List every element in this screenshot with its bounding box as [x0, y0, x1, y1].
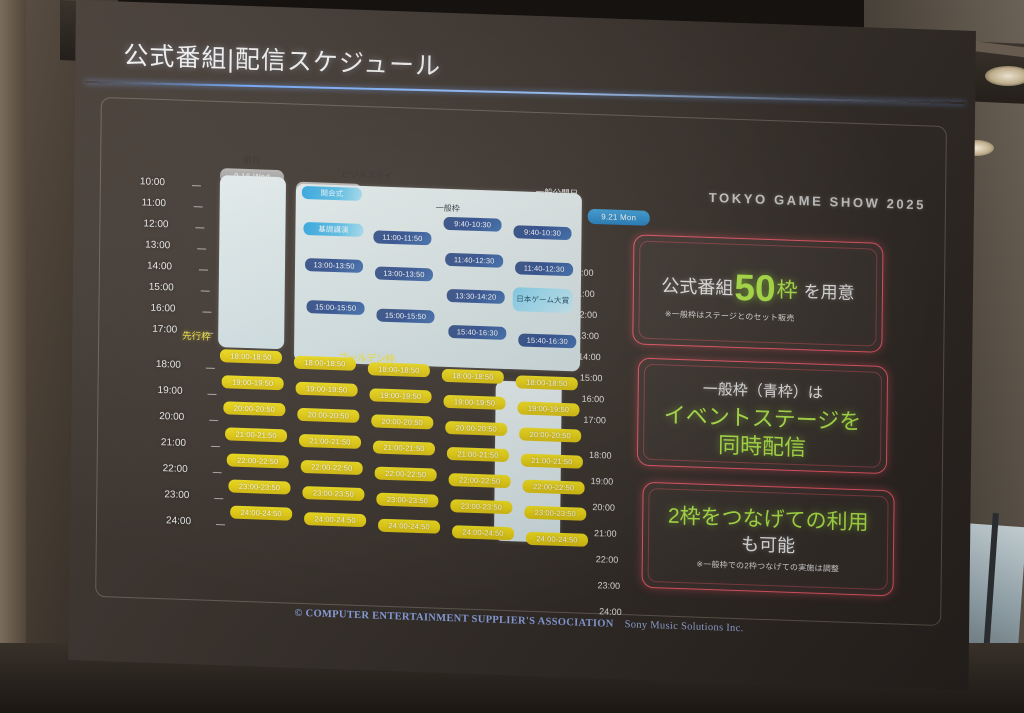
night-0-3[interactable]: 21:00-21:50: [225, 427, 287, 442]
night-0-2[interactable]: 20:00-20:50: [223, 401, 285, 416]
time-label-17: 17:00: [152, 324, 177, 336]
slot-thu-2[interactable]: 13:00-13:50: [305, 258, 363, 273]
night-2-5[interactable]: 23:00-23:50: [376, 493, 438, 508]
night-3-6[interactable]: 24:00-24:50: [452, 525, 514, 540]
slot-sun-1[interactable]: 11:40-12:30: [515, 261, 573, 276]
right-night-19: 19:00: [591, 476, 614, 487]
night-label-21: 21:00: [161, 437, 186, 449]
night-1-1[interactable]: 19:00-19:50: [296, 382, 358, 397]
right-label-15: 15:00: [580, 373, 603, 384]
night-4-3[interactable]: 21:00-21:50: [521, 454, 583, 469]
day-panel-9-16[interactable]: [218, 175, 286, 349]
right-night-18: 18:00: [589, 450, 612, 461]
time-label-14: 14:00: [147, 261, 172, 273]
slot-sat-2[interactable]: 13:30-14:20: [447, 289, 505, 304]
slot-thu-1[interactable]: 基調講演: [303, 222, 363, 237]
night-label-18: 18:00: [156, 359, 181, 371]
slot-sat-0[interactable]: 9:40-10:30: [444, 217, 502, 232]
projected-slide-photo: 公式番組|配信スケジュール TOKYO GAME SHOW 2025 前日 9.…: [0, 0, 1024, 713]
night-label-20: 20:00: [159, 411, 184, 423]
time-label-15: 15:00: [149, 282, 174, 294]
slot-sun-2-game-awards[interactable]: 日本ゲーム大賞: [513, 287, 573, 313]
night-2-0[interactable]: 18:00-18:50: [368, 362, 430, 377]
callout-simulcast[interactable]: 一般枠（青枠）は イベントステージを 同時配信: [637, 358, 888, 475]
night-2-1[interactable]: 19:00-19:50: [370, 388, 432, 403]
group-label-business-day: ビジネスデイ: [296, 167, 438, 184]
callout-slot-count-suffix: を用意: [803, 282, 854, 303]
callout-double-slot[interactable]: 2枠をつなげての利用 も可能 ※一般枠での2枠つなげての実施は調整: [641, 482, 894, 597]
section-label-advance: 先行枠: [182, 328, 211, 343]
right-night-20: 20:00: [592, 502, 615, 513]
right-night-22: 22:00: [596, 554, 619, 565]
page-title: 公式番組|配信スケジュール: [123, 36, 441, 83]
broadcast-schedule: 前日 9.16 Wed ビジネスデイ 9.17 Thu 9.18 Fri 一般公…: [136, 150, 651, 580]
right-night-21: 21:00: [594, 528, 617, 539]
right-label-14: 14:00: [578, 351, 601, 362]
callout-slot-count[interactable]: 公式番組50枠を用意 ※一般枠はステージとのセット販売: [632, 234, 883, 353]
night-label-19: 19:00: [157, 385, 182, 397]
callout-slot-count-prefix: 公式番組: [661, 276, 733, 298]
night-1-3[interactable]: 21:00-21:50: [299, 434, 361, 449]
night-2-3[interactable]: 21:00-21:50: [373, 440, 435, 455]
night-4-1[interactable]: 19:00-19:50: [517, 401, 579, 416]
night-0-1[interactable]: 19:00-19:50: [222, 375, 284, 390]
time-label-12: 12:00: [143, 218, 168, 230]
night-4-2[interactable]: 20:00-20:50: [519, 427, 581, 442]
night-0-5[interactable]: 23:00-23:50: [228, 479, 290, 494]
night-4-6[interactable]: 24:00-24:50: [526, 532, 588, 547]
night-1-0[interactable]: 18:00-18:50: [294, 356, 356, 371]
night-3-5[interactable]: 23:00-23:50: [450, 499, 512, 514]
time-label-11: 11:00: [142, 197, 166, 209]
night-3-2[interactable]: 20:00-20:50: [445, 421, 507, 436]
night-0-4[interactable]: 22:00-22:50: [227, 453, 289, 468]
day-header-5[interactable]: 9.21 Mon: [588, 209, 650, 226]
night-3-4[interactable]: 22:00-22:50: [449, 473, 511, 488]
slot-sat-3[interactable]: 15:40-16:30: [448, 325, 506, 340]
projection-screen-wrap: 公式番組|配信スケジュール TOKYO GAME SHOW 2025 前日 9.…: [68, 0, 976, 711]
room-wall-left-edge: [0, 0, 26, 713]
night-2-2[interactable]: 20:00-20:50: [371, 414, 433, 429]
group-label-prev-day: 前日: [220, 153, 284, 167]
night-2-4[interactable]: 22:00-22:50: [375, 466, 437, 481]
footer-partner: Sony Music Solutions Inc.: [625, 619, 744, 634]
night-3-3[interactable]: 21:00-21:50: [447, 447, 509, 462]
slot-fri-1[interactable]: 13:00-13:50: [375, 266, 433, 281]
slot-sun-3[interactable]: 15:40-16:30: [518, 333, 576, 348]
night-4-5[interactable]: 23:00-23:50: [524, 506, 586, 521]
ceiling-light-1: [985, 66, 1024, 86]
slot-fri-0[interactable]: 11:00-11:50: [373, 230, 431, 245]
slot-sat-1[interactable]: 11:40-12:30: [445, 253, 503, 268]
night-label-22: 22:00: [163, 463, 188, 475]
night-1-6[interactable]: 24:00-24:50: [304, 512, 366, 527]
night-1-2[interactable]: 20:00-20:50: [297, 408, 359, 423]
night-label-24: 24:00: [166, 515, 191, 527]
night-label-23: 23:00: [164, 489, 189, 501]
slot-fri-2[interactable]: 15:00-15:50: [376, 308, 434, 323]
right-label-17: 17:00: [583, 415, 606, 426]
night-4-0[interactable]: 18:00-18:50: [516, 375, 578, 390]
time-label-13: 13:00: [145, 239, 170, 251]
night-2-6[interactable]: 24:00-24:50: [378, 519, 440, 534]
night-0-0[interactable]: 18:00-18:50: [220, 349, 282, 364]
time-label-16: 16:00: [150, 303, 175, 315]
time-label-10: 10:00: [140, 176, 165, 188]
night-3-1[interactable]: 19:00-19:50: [443, 395, 505, 410]
right-label-16: 16:00: [582, 394, 605, 405]
general-slot-label: 一般枠: [436, 202, 460, 214]
callout-slot-count-unit: 枠: [776, 279, 797, 303]
slot-thu-0[interactable]: 開会式: [302, 186, 362, 201]
night-1-4[interactable]: 22:00-22:50: [301, 460, 363, 475]
night-0-6[interactable]: 24:00-24:50: [230, 506, 292, 521]
night-4-4[interactable]: 22:00-22:50: [523, 480, 585, 495]
right-night-23: 23:00: [597, 580, 620, 591]
slot-thu-3[interactable]: 15:00-15:50: [306, 300, 364, 315]
callout-slot-count-number: 50: [734, 267, 776, 309]
right-night-24: 24:00: [599, 606, 622, 617]
night-3-0[interactable]: 18:00-18:50: [442, 369, 504, 384]
slot-sun-0[interactable]: 9:40-10:30: [513, 225, 571, 240]
projection-screen: 公式番組|配信スケジュール TOKYO GAME SHOW 2025 前日 9.…: [68, 0, 976, 691]
night-1-5[interactable]: 23:00-23:50: [302, 486, 364, 501]
